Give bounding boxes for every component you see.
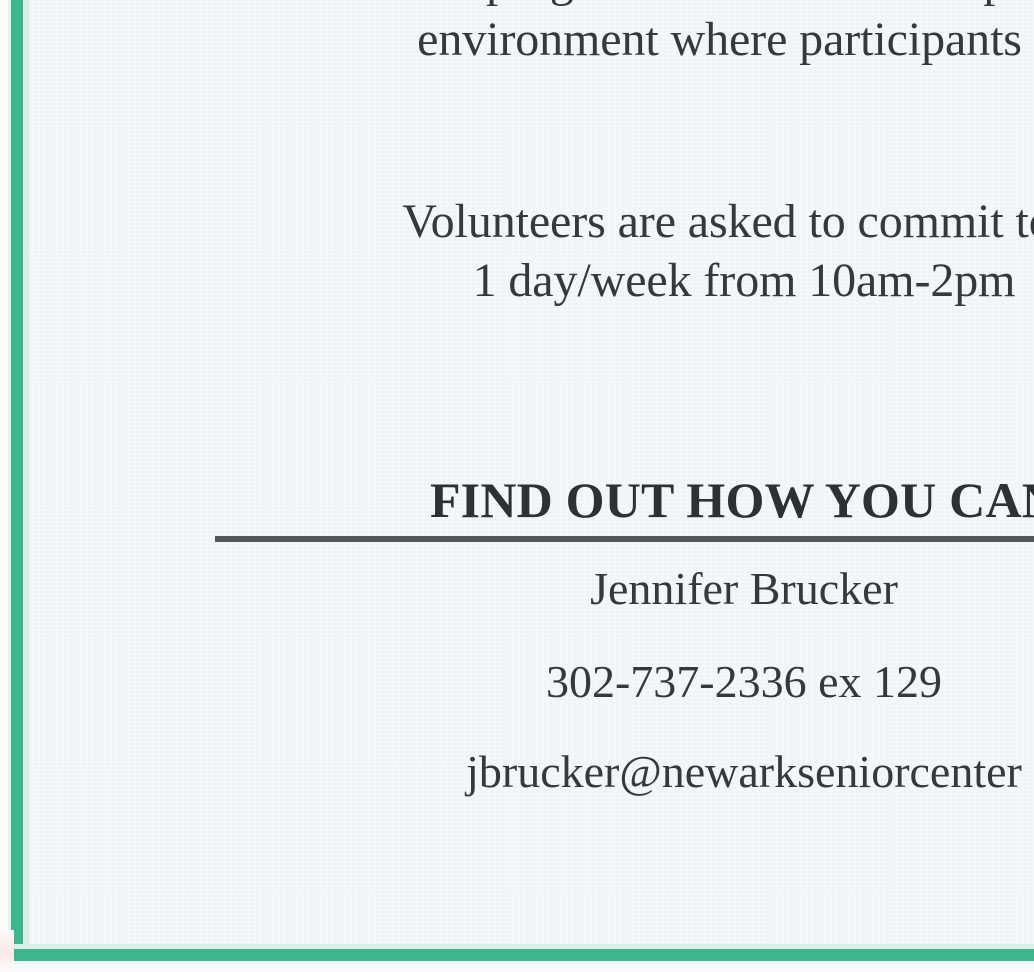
frame-left-inner-edge bbox=[23, 0, 29, 958]
contact-heading: FIND OUT HOW YOU CAN bbox=[29, 470, 1034, 530]
contact-name: Jennifer Brucker bbox=[29, 564, 1034, 615]
scan-artifact-bottom-left bbox=[0, 930, 14, 972]
intro-paragraph: with program activities and help crea en… bbox=[29, 0, 1034, 69]
flyer-page: with program activities and help crea en… bbox=[0, 0, 1034, 972]
intro-paragraph-line-2: environment where participants fe bbox=[29, 11, 1034, 70]
paper-bottom-margin bbox=[0, 961, 1034, 972]
contact-block: FIND OUT HOW YOU CAN Jennifer Brucker 30… bbox=[29, 470, 1034, 798]
contact-phone[interactable]: 302-737-2336 ex 129 bbox=[29, 657, 1034, 708]
intro-paragraph-line-1: with program activities and help crea bbox=[29, 0, 1034, 11]
commitment-paragraph: Volunteers are asked to commit to a 1 da… bbox=[29, 193, 1034, 310]
commitment-line-2: 1 day/week from 10am-2pm bbox=[29, 252, 1034, 311]
contact-email[interactable]: jbrucker@newarkseniorcenter bbox=[29, 747, 1034, 798]
contact-heading-underline bbox=[215, 536, 1034, 542]
commitment-line-1: Volunteers are asked to commit to a bbox=[29, 193, 1034, 252]
frame-bottom-rule bbox=[11, 949, 1034, 961]
frame-left-rule bbox=[11, 0, 23, 958]
